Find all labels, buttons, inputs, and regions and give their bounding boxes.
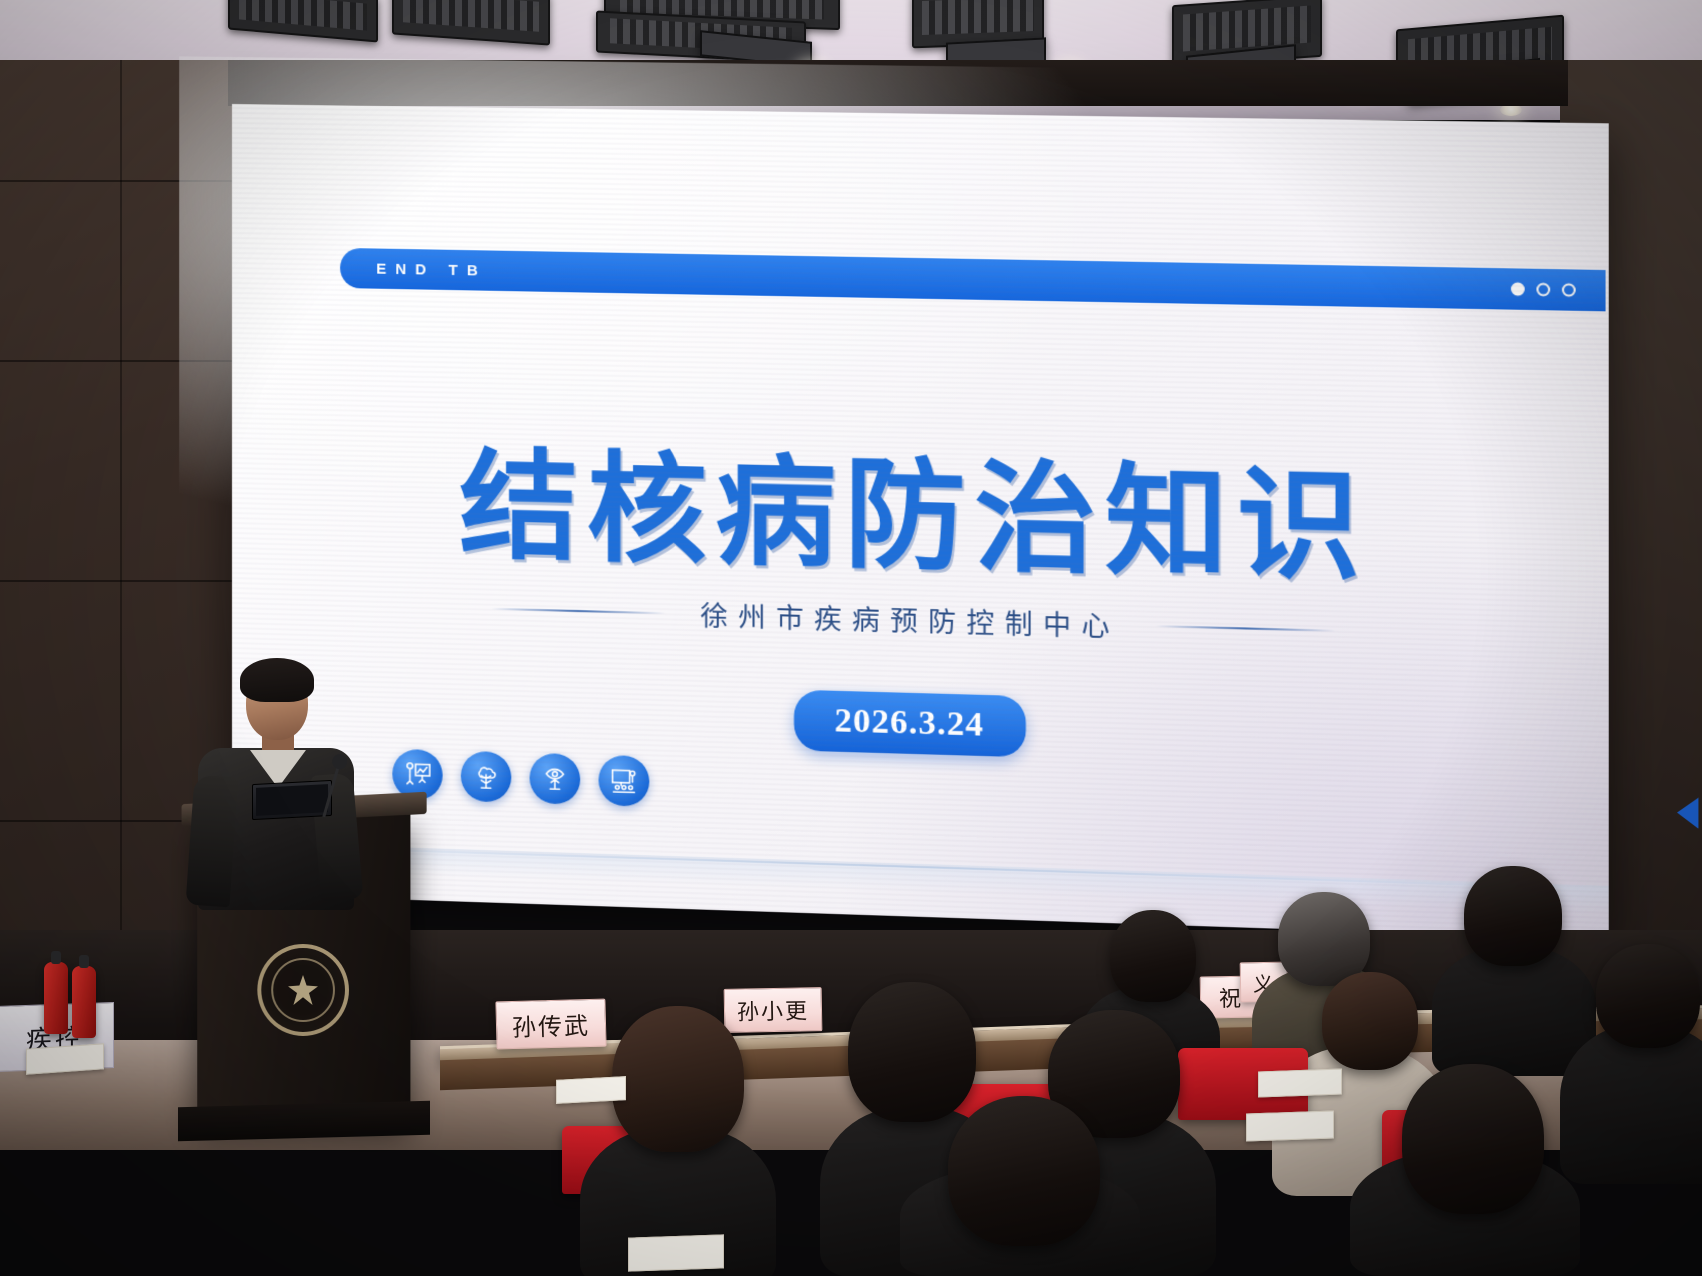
fire-extinguisher-1 bbox=[44, 962, 68, 1034]
audience-head-1 bbox=[1110, 910, 1196, 1002]
subtitle-rule-left bbox=[491, 607, 666, 614]
desk-paper-3 bbox=[628, 1234, 724, 1271]
slide-title: 结核病防治知识 bbox=[232, 404, 1609, 610]
audience-head-3 bbox=[1464, 866, 1562, 966]
screening-person-icon bbox=[530, 753, 581, 805]
desk-paper-1 bbox=[556, 1076, 626, 1104]
university-seal-emblem bbox=[257, 944, 349, 1036]
audience-head-4 bbox=[1322, 972, 1418, 1070]
slide-surface: END TB 结核病防治知识 徐州市疾病预防控制中心 2026.3.24 bbox=[232, 104, 1609, 940]
audience-head-9 bbox=[948, 1096, 1100, 1246]
audience-head-6 bbox=[612, 1006, 744, 1152]
audience-head-10 bbox=[1402, 1064, 1544, 1214]
speaker-hair bbox=[240, 658, 314, 702]
slide-dot-3[interactable] bbox=[1562, 283, 1576, 297]
fire-extinguisher-2 bbox=[72, 966, 96, 1038]
slide-feature-icons bbox=[392, 749, 649, 807]
slide-nav-arrows bbox=[1677, 797, 1702, 830]
name-card-2: 孙小更 bbox=[724, 987, 823, 1033]
desk-paper-2 bbox=[1258, 1069, 1342, 1098]
prev-slide-arrow[interactable] bbox=[1677, 797, 1698, 829]
audience-head-2 bbox=[1278, 892, 1370, 986]
name-card-1: 孙传武 bbox=[495, 999, 606, 1050]
slide-dot-1[interactable] bbox=[1511, 282, 1525, 296]
slide-dot-2[interactable] bbox=[1536, 283, 1550, 297]
slide-date-badge: 2026.3.24 bbox=[793, 690, 1025, 758]
slide-page-dots bbox=[1511, 282, 1576, 297]
left-desk-paper bbox=[26, 1043, 104, 1074]
classroom-board-icon bbox=[599, 755, 650, 807]
presenter-laptop bbox=[246, 780, 338, 827]
subtitle-rule-right bbox=[1155, 625, 1335, 632]
lung-tree-icon bbox=[461, 751, 512, 803]
audience-shoulders-5 bbox=[1560, 1024, 1702, 1184]
desk-paper-4 bbox=[1246, 1110, 1334, 1141]
projection-screen: END TB 结核病防治知识 徐州市疾病预防控制中心 2026.3.24 bbox=[232, 104, 1609, 940]
lectern-base bbox=[178, 1101, 430, 1142]
audience-head-5 bbox=[1596, 944, 1700, 1048]
lecture-hall-photo: NexBeam END TB bbox=[0, 0, 1702, 1276]
end-tb-label: END TB bbox=[376, 260, 487, 279]
speaker-arm-left bbox=[186, 775, 239, 908]
audience-head-7 bbox=[848, 982, 976, 1122]
